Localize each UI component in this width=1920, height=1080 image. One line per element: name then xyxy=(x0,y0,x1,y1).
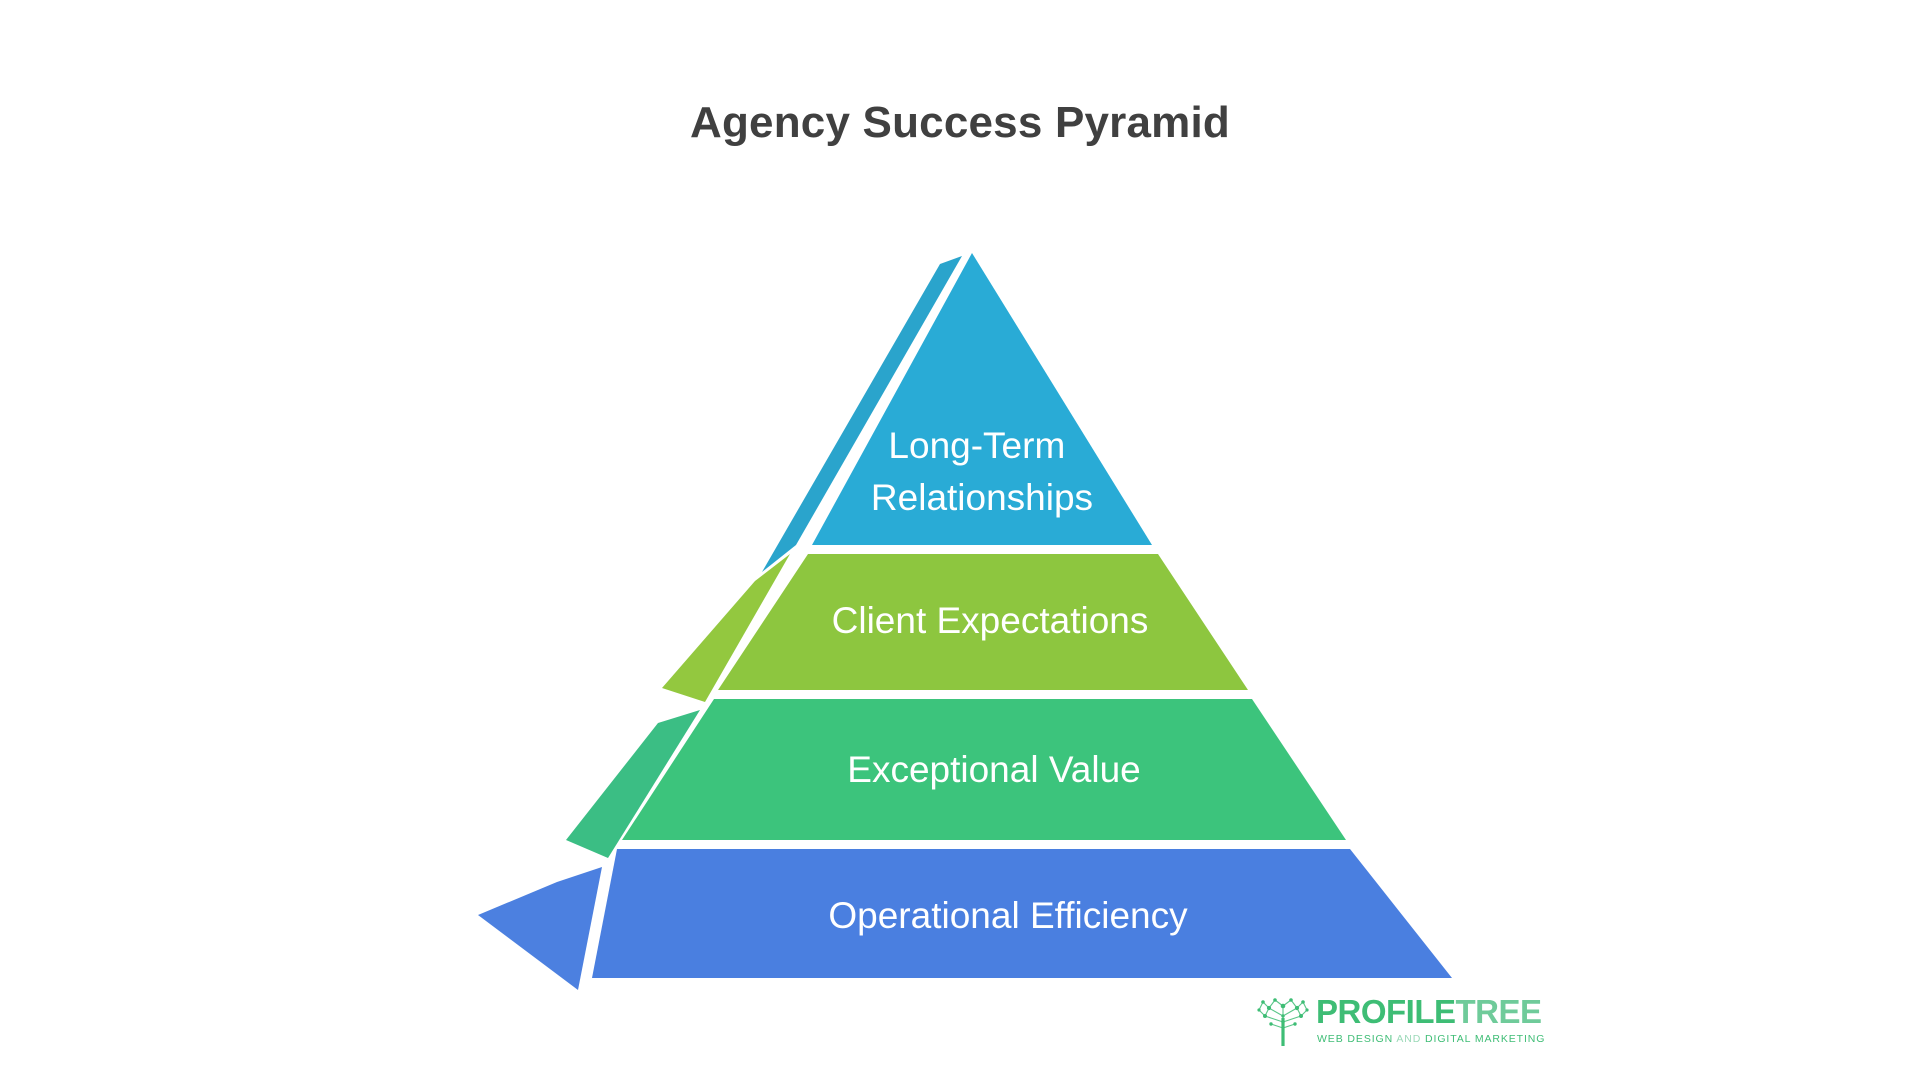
pyramid-level-1[interactable]: Long-Term Relationships xyxy=(762,253,1152,572)
profiletree-logo: PROFILETREE WEB DESIGN AND DIGITAL MARKE… xyxy=(1253,992,1503,1054)
logo-wordmark-primary: PROFILE xyxy=(1316,993,1456,1030)
pyramid-diagram: Long-Term Relationships Client Expectati… xyxy=(0,0,1920,1080)
pyramid-level-2-label-line-1: Client Expectations xyxy=(832,600,1149,641)
logo-wordmark-secondary: TREE xyxy=(1456,993,1542,1030)
logo-tagline: WEB DESIGN AND DIGITAL MARKETING xyxy=(1317,1033,1545,1045)
logo-tagline-part-3: DIGITAL MARKETING xyxy=(1425,1033,1545,1045)
pyramid-level-1-label-line-1: Long-Term xyxy=(888,425,1065,466)
diagram-canvas: Agency Success Pyramid Long-Term Relatio… xyxy=(0,0,1920,1080)
logo-tagline-part-2: AND xyxy=(1396,1033,1425,1045)
tree-network-icon xyxy=(1253,992,1313,1050)
pyramid-level-4[interactable]: Operational Efficiency xyxy=(478,849,1452,990)
pyramid-level-4-label-line-1: Operational Efficiency xyxy=(828,895,1188,936)
logo-tagline-part-1: WEB DESIGN xyxy=(1317,1033,1396,1045)
pyramid-level-3[interactable]: Exceptional Value xyxy=(566,699,1346,858)
pyramid-level-1-label-line-2: Relationships xyxy=(871,477,1093,518)
pyramid-level-4-side xyxy=(478,867,602,990)
pyramid-level-3-label: Exceptional Value xyxy=(847,749,1140,790)
pyramid-level-2-label: Client Expectations xyxy=(832,600,1149,641)
pyramid-level-2[interactable]: Client Expectations xyxy=(662,554,1248,702)
pyramid-level-3-label-line-1: Exceptional Value xyxy=(847,749,1140,790)
logo-wordmark: PROFILETREE xyxy=(1316,994,1542,1030)
pyramid-level-4-label: Operational Efficiency xyxy=(828,895,1188,936)
